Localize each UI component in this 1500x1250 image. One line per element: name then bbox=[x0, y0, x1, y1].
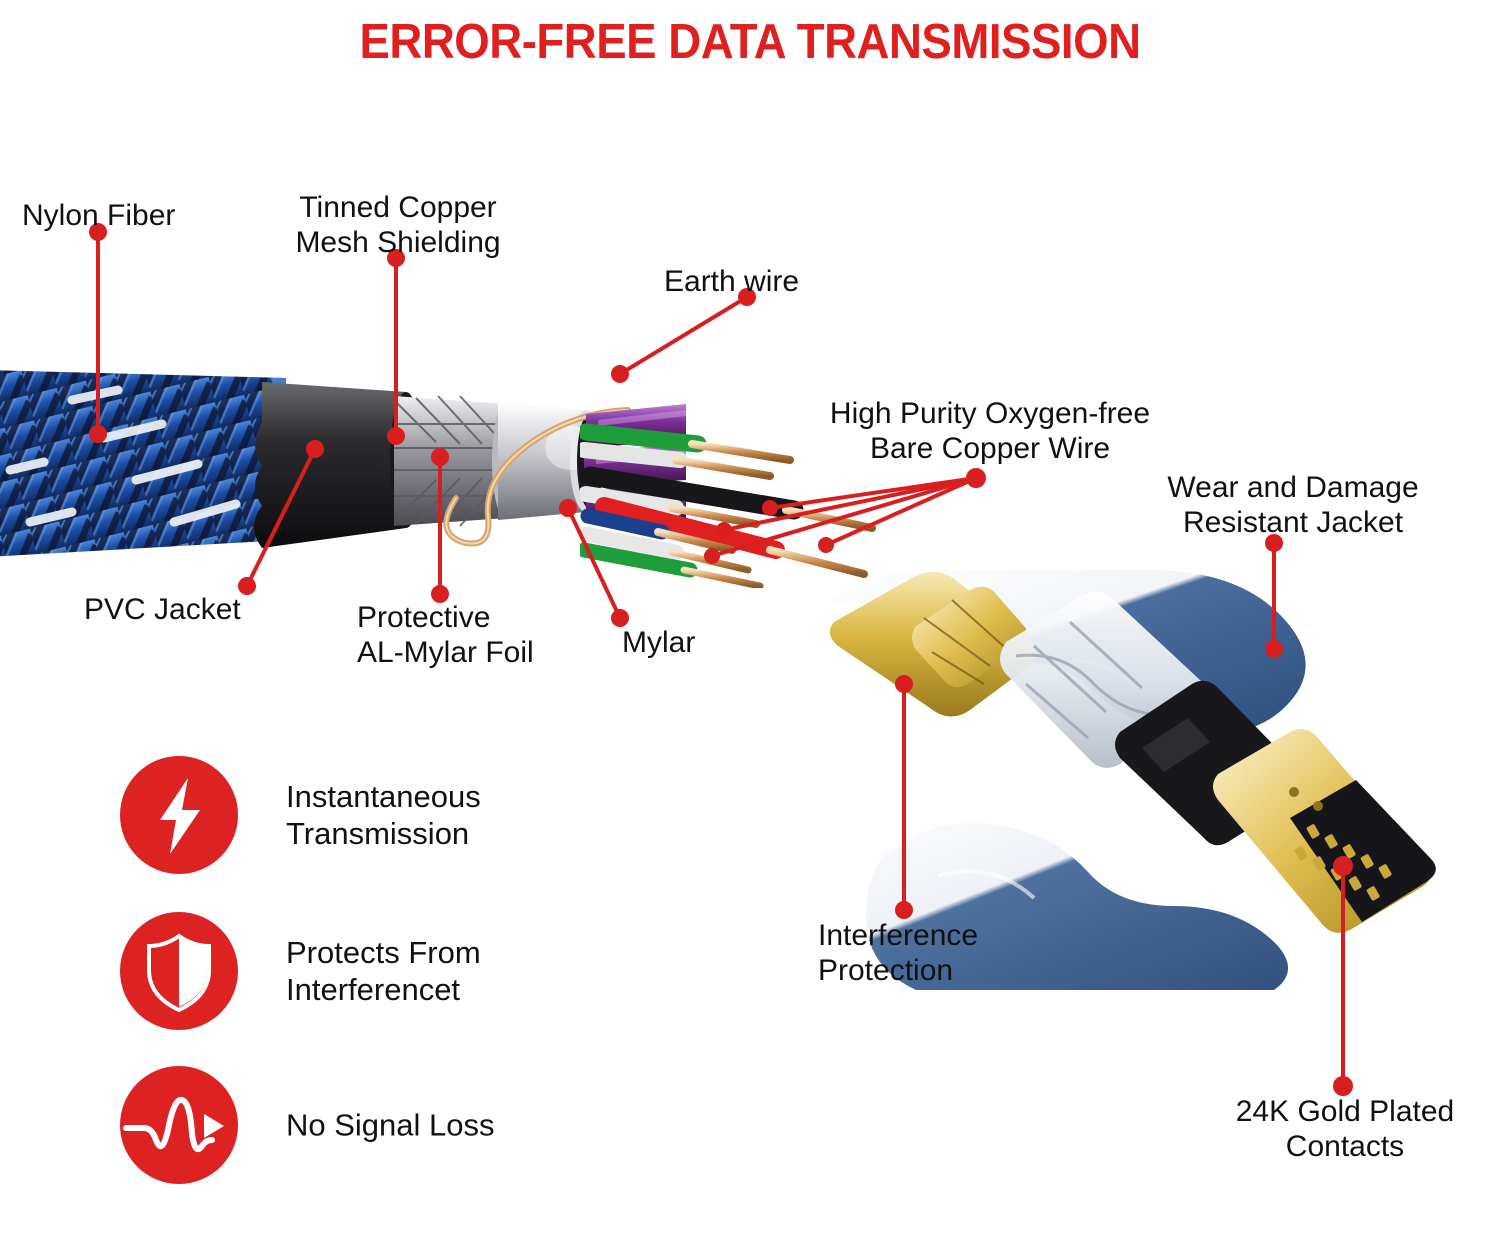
callout-pvc-jacket: PVC Jacket bbox=[84, 592, 241, 627]
callout-high-purity-copper: High Purity Oxygen-free Bare Copper Wire bbox=[810, 396, 1170, 466]
callout-interference-protection: Interference Protection bbox=[818, 918, 978, 988]
feature-label: Protects From Interferencet bbox=[286, 934, 481, 1008]
lightning-bolt-icon bbox=[120, 756, 238, 874]
signal-wave-icon bbox=[120, 1066, 238, 1184]
callout-mylar: Mylar bbox=[622, 625, 695, 660]
callout-gold-plated-contacts: 24K Gold Plated Contacts bbox=[1185, 1094, 1500, 1164]
callout-tinned-copper-shielding: Tinned Copper Mesh Shielding bbox=[238, 190, 558, 260]
callout-earth-wire: Earth wire bbox=[664, 264, 799, 299]
shield-icon bbox=[120, 912, 238, 1030]
callout-nylon-fiber: Nylon Fiber bbox=[22, 198, 175, 233]
callout-wear-damage-jacket: Wear and Damage Resistant Jacket bbox=[1128, 470, 1458, 540]
feature-no-signal-loss: No Signal Loss bbox=[120, 1066, 680, 1184]
feature-label: Instantaneous Transmission bbox=[286, 778, 481, 852]
page-title: ERROR-FREE DATA TRANSMISSION bbox=[53, 14, 1448, 70]
infographic-canvas: ERROR-FREE DATA TRANSMISSION bbox=[0, 0, 1500, 1250]
feature-label: No Signal Loss bbox=[286, 1106, 495, 1143]
feature-instantaneous-transmission: Instantaneous Transmission bbox=[120, 756, 680, 874]
feature-protects-from-interference: Protects From Interferencet bbox=[120, 912, 680, 1030]
callout-protective-al-mylar: Protective AL-Mylar Foil bbox=[357, 600, 534, 670]
